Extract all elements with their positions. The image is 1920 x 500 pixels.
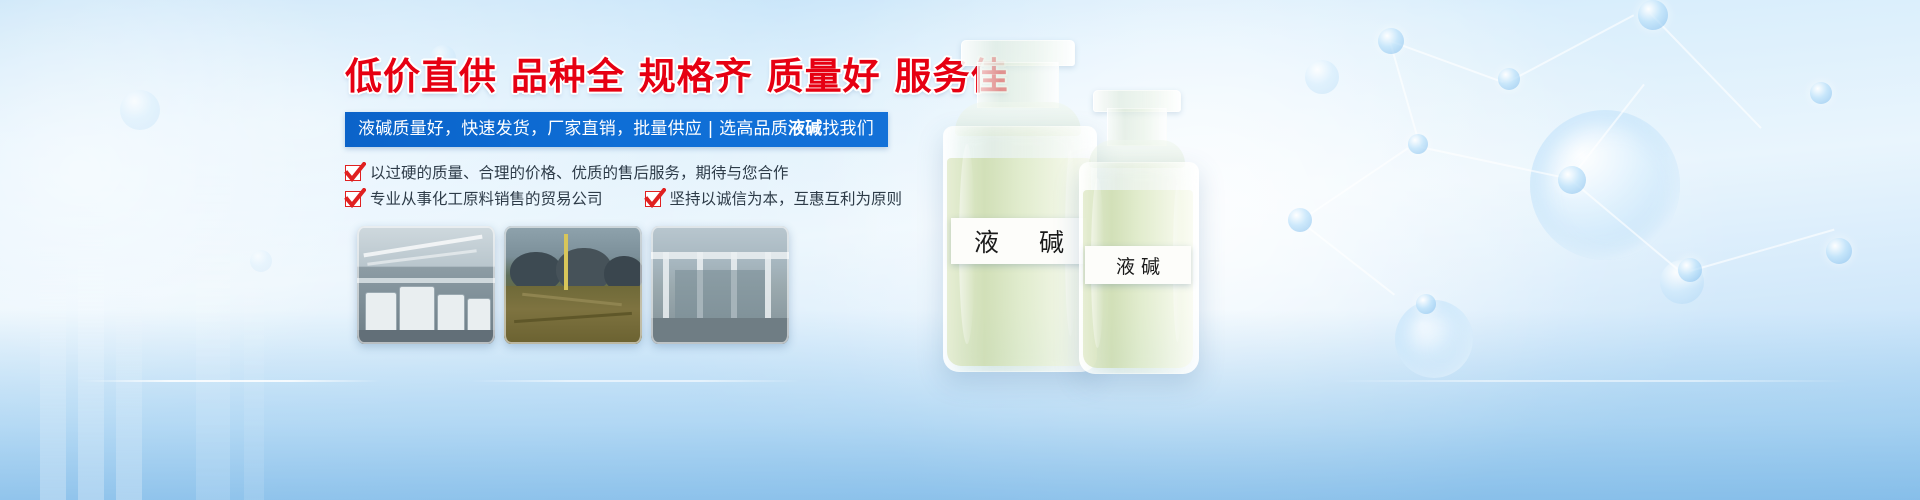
benefit-text-2: 专业从事化工原料销售的贸易公司 — [370, 192, 603, 208]
copy-block: 低价直供 品种全 规格齐 质量好 服务佳 液碱质量好，快速发货，厂家直销，批量供… — [345, 58, 985, 217]
molecule-graphic — [1270, 0, 1910, 400]
benefit-item-2: 专业从事化工原料销售的贸易公司 — [345, 191, 603, 207]
check-icon — [345, 191, 361, 207]
subtitle-text-part-2: 找我们 — [822, 119, 874, 139]
subtitle-bar: 液碱质量好，快速发货，厂家直销，批量供应 | 选高品质液碱找我们 — [345, 112, 888, 147]
benefit-text-1: 以过硬的质量、合理的价格、优质的售后服务，期待与您合作 — [370, 166, 789, 182]
benefit-list: 以过硬的质量、合理的价格、优质的售后服务，期待与您合作 专业从事化工原料销售的贸… — [345, 165, 985, 207]
benefit-item-1: 以过硬的质量、合理的价格、优质的售后服务，期待与您合作 — [345, 165, 789, 181]
photo-thumbnail-strip — [357, 226, 798, 344]
check-icon — [645, 191, 661, 207]
headline: 低价直供 品种全 规格齐 质量好 服务佳 — [345, 58, 985, 95]
decorative-stripes — [0, 0, 340, 500]
product-bottle-small: 液碱 — [1065, 90, 1215, 375]
benefit-row-2: 专业从事化工原料销售的贸易公司 坚持以诚信为本，互惠互利为原则 — [345, 191, 985, 207]
promo-banner: 低价直供 品种全 规格齐 质量好 服务佳 液碱质量好，快速发货，厂家直销，批量供… — [0, 0, 1920, 500]
benefit-row-1: 以过硬的质量、合理的价格、优质的售后服务，期待与您合作 — [345, 165, 985, 181]
decorative-bubble-small-5 — [250, 250, 272, 272]
benefit-text-3: 坚持以诚信为本，互惠互利为原则 — [670, 192, 903, 208]
decorative-bubble-small-3 — [120, 90, 160, 130]
decorative-hairline-2 — [470, 380, 800, 382]
subtitle-text-part-1: 液碱质量好，快速发货，厂家直销，批量供应 | 选高品质 — [358, 119, 788, 139]
storage-tank-farm-photo — [357, 226, 495, 344]
benefit-item-3: 坚持以诚信为本，互惠互利为原则 — [645, 191, 903, 207]
industrial-tanks-site-photo — [504, 226, 642, 344]
subtitle-keyword: 液碱 — [788, 119, 822, 139]
factory-workshop-photo — [651, 226, 789, 344]
bottle-label-small: 液碱 — [1085, 246, 1191, 284]
product-bottles: 液 碱 液碱 — [905, 0, 1305, 500]
decorative-hairline-1 — [80, 380, 380, 382]
check-icon — [345, 165, 361, 181]
